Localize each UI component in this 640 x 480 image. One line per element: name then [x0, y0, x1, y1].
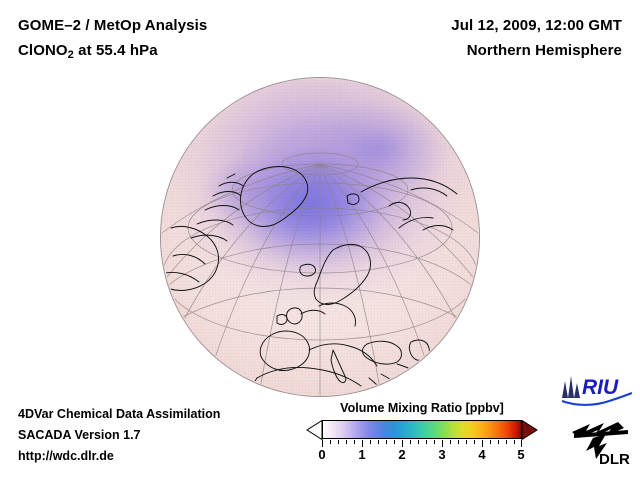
level-label: at 55.4 hPa	[74, 42, 158, 59]
page-title: GOME–2 / MetOp Analysis	[18, 13, 207, 38]
colorbar-gradient-fill	[323, 421, 521, 438]
dlr-logo: DLR	[566, 412, 636, 468]
region-label: Northern Hemisphere	[451, 38, 622, 63]
method-label: 4DVar Chemical Data Assimilation	[18, 404, 220, 425]
colorbar-tick-2: 2	[398, 447, 405, 462]
colorbar-tick-0: 0	[318, 447, 325, 462]
colorbar: Volume Mixing Ratio [ppbv]	[306, 400, 538, 465]
colorbar-tick-3: 3	[438, 447, 445, 462]
riu-logo: RIU	[558, 372, 634, 406]
globe-disc	[161, 78, 479, 396]
colorbar-ticks	[322, 440, 522, 447]
valid-time-label: Jul 12, 2009, 12:00 GMT	[451, 13, 622, 38]
species-level-label: ClONO2 at 55.4 hPa	[18, 38, 207, 68]
colorbar-tick-labels: 0 1 2 3 4 5	[322, 447, 522, 465]
website-url[interactable]: http://wdc.dlr.de	[18, 446, 220, 467]
header-left: GOME–2 / MetOp Analysis ClONO2 at 55.4 h…	[18, 13, 207, 68]
colorbar-tick-4: 4	[478, 447, 485, 462]
globe-map	[161, 78, 479, 396]
colorbar-gradient	[322, 420, 522, 439]
version-label: SACADA Version 1.7	[18, 425, 220, 446]
limb-shading	[161, 78, 479, 396]
colorbar-row	[306, 420, 538, 440]
species-name: ClONO	[18, 42, 68, 59]
attribution-block: 4DVar Chemical Data Assimilation SACADA …	[18, 404, 220, 467]
riu-spikes-icon	[562, 376, 580, 398]
colorbar-tick-1: 1	[358, 447, 365, 462]
dlr-wordmark: DLR	[599, 451, 630, 468]
colorbar-tick-5: 5	[517, 447, 524, 462]
header-right: Jul 12, 2009, 12:00 GMT Northern Hemisph…	[451, 13, 622, 63]
riu-wordmark: RIU	[582, 376, 619, 399]
colorbar-title: Volume Mixing Ratio [ppbv]	[306, 400, 538, 416]
visualization-canvas: GOME–2 / MetOp Analysis ClONO2 at 55.4 h…	[0, 0, 640, 480]
